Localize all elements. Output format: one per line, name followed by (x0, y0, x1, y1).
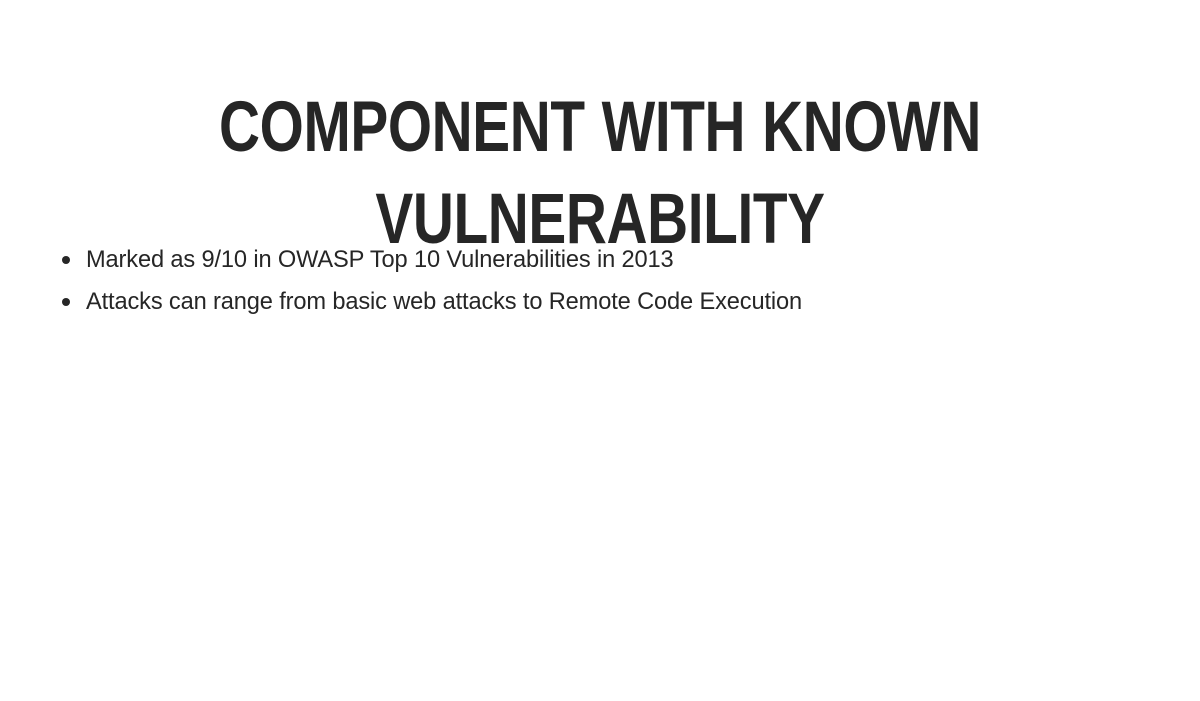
bullet-dot-icon (62, 243, 86, 277)
bullet-text: Attacks can range from basic web attacks… (86, 285, 1105, 319)
presentation-slide: COMPONENT WITH KNOWN VULNERABILITY Marke… (0, 0, 1200, 701)
list-item: Attacks can range from basic web attacks… (62, 285, 1142, 327)
bullet-list: Marked as 9/10 in OWASP Top 10 Vulnerabi… (62, 243, 1142, 327)
slide-content-area (0, 335, 1200, 701)
bullet-text: Marked as 9/10 in OWASP Top 10 Vulnerabi… (86, 243, 1105, 277)
list-item: Marked as 9/10 in OWASP Top 10 Vulnerabi… (62, 243, 1142, 285)
slide-title: COMPONENT WITH KNOWN VULNERABILITY (168, 82, 1032, 266)
bullet-dot-icon (62, 285, 86, 319)
